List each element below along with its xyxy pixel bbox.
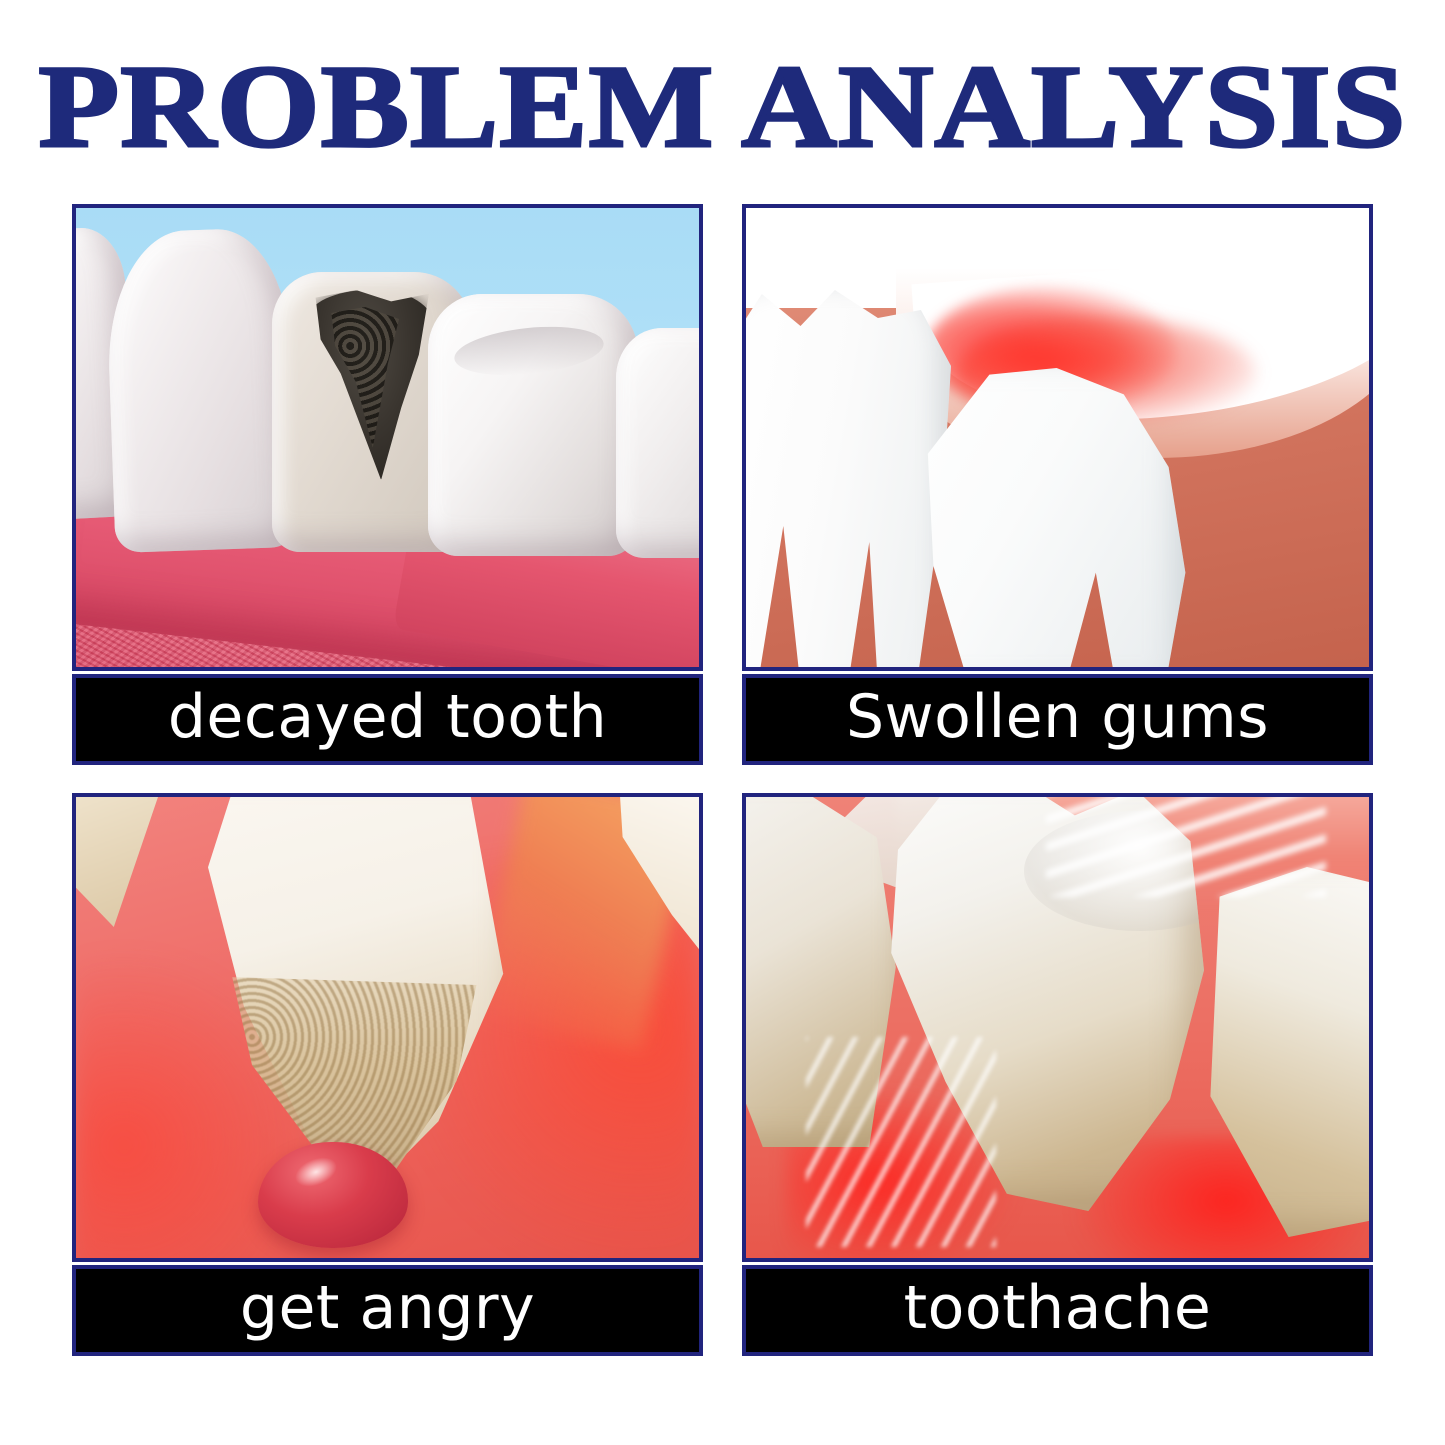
swollen-gums-image <box>742 204 1373 671</box>
caption-label: toothache <box>904 1278 1212 1344</box>
tooth-shape <box>104 227 297 553</box>
panel-card-toothache: toothache <box>742 793 1373 1356</box>
caption-bar-decayed-tooth: decayed tooth <box>72 674 703 765</box>
toothache-image <box>742 793 1373 1262</box>
caption-bar-get-angry: get angry <box>72 1265 703 1356</box>
molar-tooth-shape <box>428 294 638 556</box>
caption-bar-swollen-gums: Swollen gums <box>742 674 1373 765</box>
abscess-blister <box>258 1142 408 1248</box>
panel-card-decayed-tooth: decayed tooth <box>72 204 703 765</box>
gum-specular-highlight <box>1046 797 1326 897</box>
decayed-tooth-image <box>72 204 703 671</box>
molar-tooth-shape <box>616 328 699 558</box>
panel-card-get-angry: get angry <box>72 793 703 1356</box>
page-title: PROBLEM ANALYSIS <box>0 48 1445 166</box>
problem-panel-grid: decayed tooth Swollen gums <box>72 204 1373 1356</box>
panel-card-swollen-gums: Swollen gums <box>742 204 1373 765</box>
caption-label: decayed tooth <box>168 687 607 753</box>
caption-label: Swollen gums <box>846 687 1269 753</box>
caption-bar-toothache: toothache <box>742 1265 1373 1356</box>
gum-streak-highlight <box>806 1037 996 1247</box>
caption-label: get angry <box>240 1278 535 1344</box>
gum-abscess-image <box>72 793 703 1262</box>
